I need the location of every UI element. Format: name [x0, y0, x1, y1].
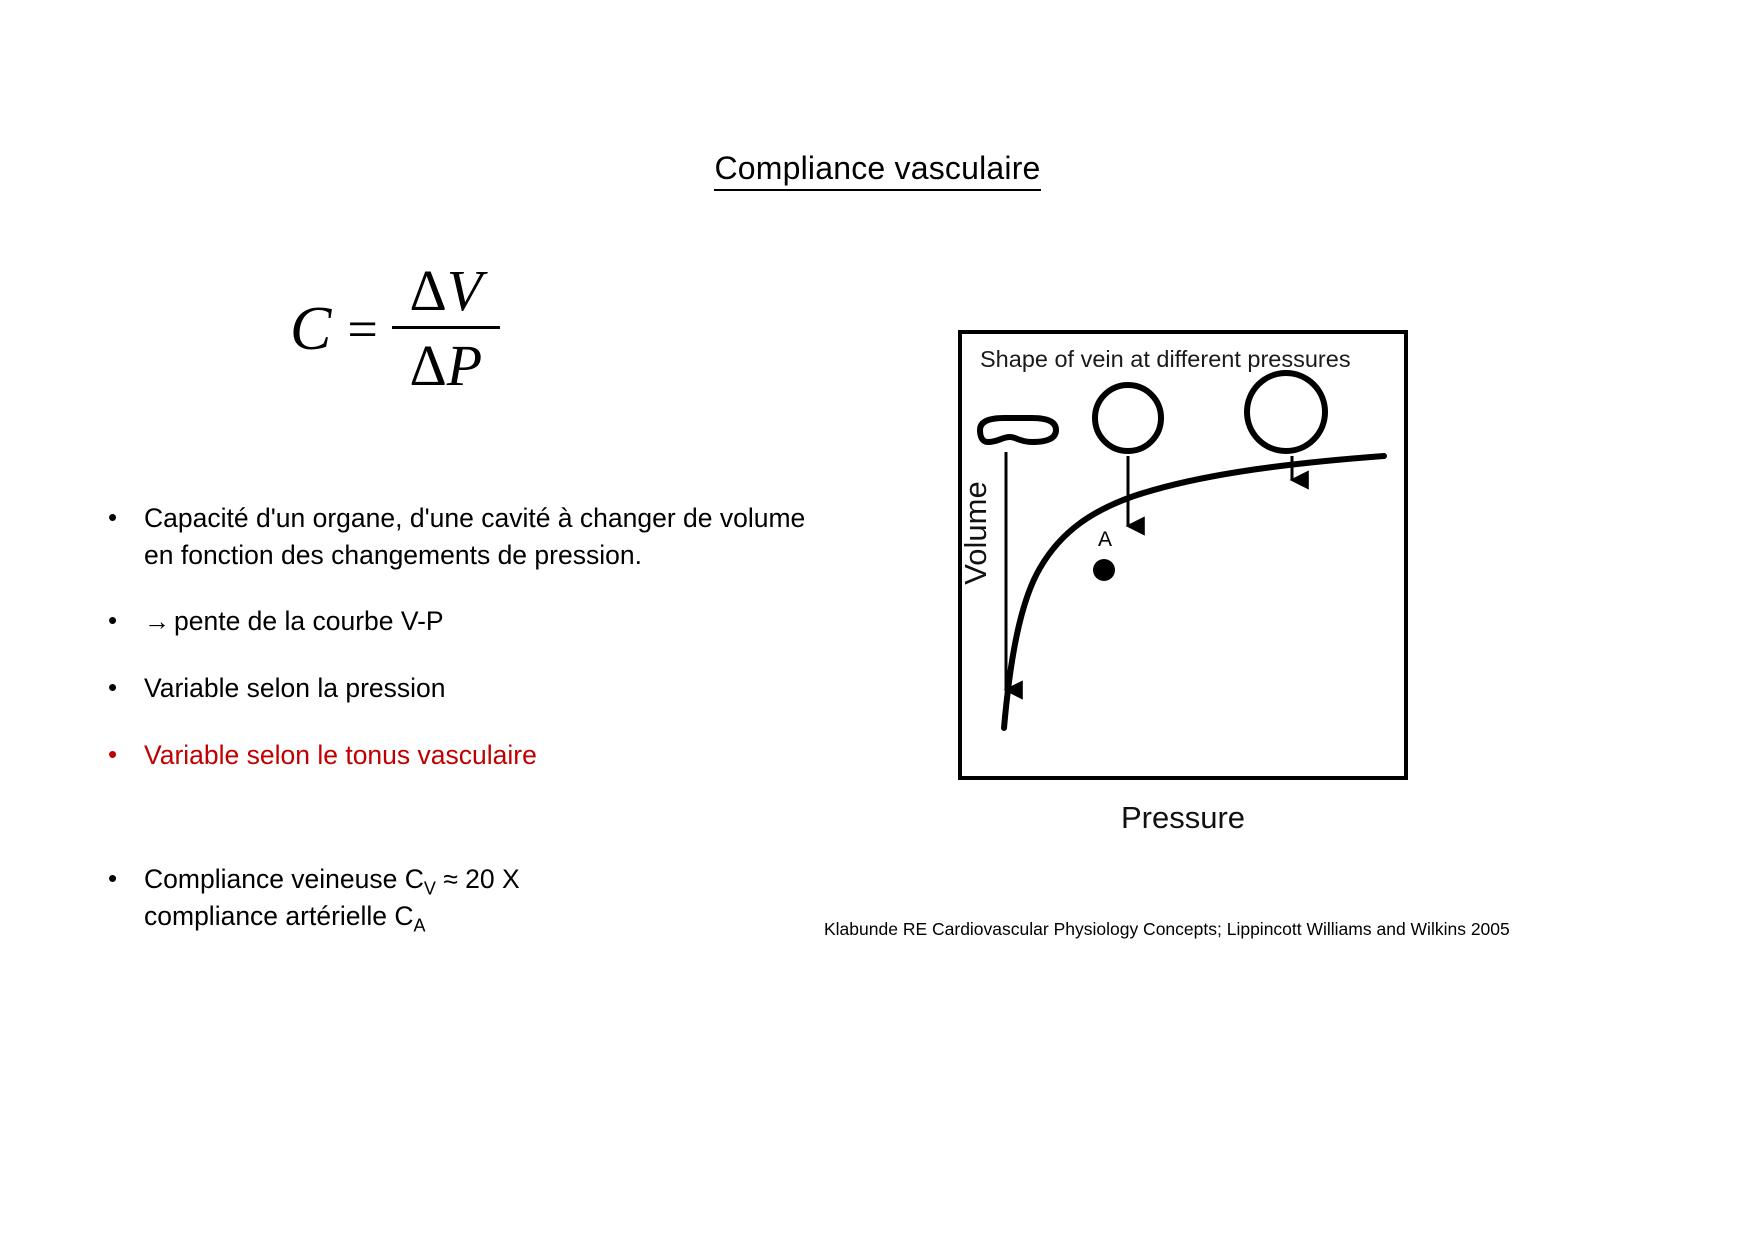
point-a-marker [1093, 559, 1115, 581]
list-item-label: Variable selon la pression [144, 670, 808, 707]
list-item-label: Capacité d'un organe, d'une cavité à cha… [144, 500, 808, 573]
list-item: • →pente de la courbe V-P [108, 603, 808, 640]
y-axis-label: Volume [958, 433, 994, 633]
page-title: Compliance vasculaire [0, 150, 1755, 191]
list-item: • Variable selon la pression [108, 670, 808, 707]
formula-equals: = [347, 302, 377, 356]
compliance-curve [1004, 456, 1384, 728]
list-item-label: Variable selon le tonus vasculaire [144, 737, 808, 774]
list-item: • Capacité d'un organe, d'une cavité à c… [108, 500, 808, 573]
formula-denominator-variable: P [447, 333, 482, 398]
vein-shape-circle-icon [1095, 385, 1161, 451]
bullet-marker-icon: • [108, 603, 144, 639]
x-axis-label: Pressure [958, 800, 1408, 836]
list-item-highlighted: • Variable selon le tonus vasculaire [108, 737, 808, 774]
bullet-marker-icon: • [108, 861, 144, 897]
list-item-label: →pente de la courbe V-P [144, 603, 808, 640]
page-title-text: Compliance vasculaire [714, 150, 1040, 191]
formula-lhs: C [290, 298, 331, 360]
formula-numerator-variable: V [447, 258, 482, 323]
compliance-ratio-text: ≈ 20 X [436, 864, 520, 894]
subscript-a: A [414, 915, 426, 935]
formula-fraction: ΔV ΔP [392, 262, 500, 395]
delta-symbol-denominator: Δ [409, 333, 446, 398]
vein-shape-circle-large-icon [1247, 373, 1325, 451]
bullet-marker-icon: • [108, 737, 144, 773]
vein-compliance-figure: Shape of vein at different pressures A V… [958, 330, 1408, 780]
subscript-v: V [424, 878, 436, 898]
formula-numerator: ΔV [403, 262, 488, 326]
list-spacer [108, 803, 808, 861]
bullet-marker-icon: • [108, 670, 144, 706]
list-item-label: Compliance veineuse CV ≈ 20 X compliance… [144, 861, 808, 934]
compliance-arterielle-text: compliance artérielle C [144, 901, 414, 931]
bullet-list: • Capacité d'un organe, d'une cavité à c… [108, 500, 808, 964]
source-citation: Klabunde RE Cardiovascular Physiology Co… [824, 919, 1510, 940]
compliance-formula: C = ΔV ΔP [290, 262, 500, 395]
formula-denominator: ΔP [403, 329, 488, 395]
point-a-label: A [1098, 528, 1112, 552]
delta-symbol-numerator: Δ [409, 258, 446, 323]
right-arrow-icon: → [144, 606, 174, 636]
figure-graphic [958, 330, 1408, 780]
list-item-text: pente de la courbe V-P [174, 606, 444, 636]
compliance-veineuse-text: Compliance veineuse C [144, 864, 424, 894]
list-item-compliance-ratio: • Compliance veineuse CV ≈ 20 X complian… [108, 861, 808, 934]
bullet-marker-icon: • [108, 500, 144, 536]
